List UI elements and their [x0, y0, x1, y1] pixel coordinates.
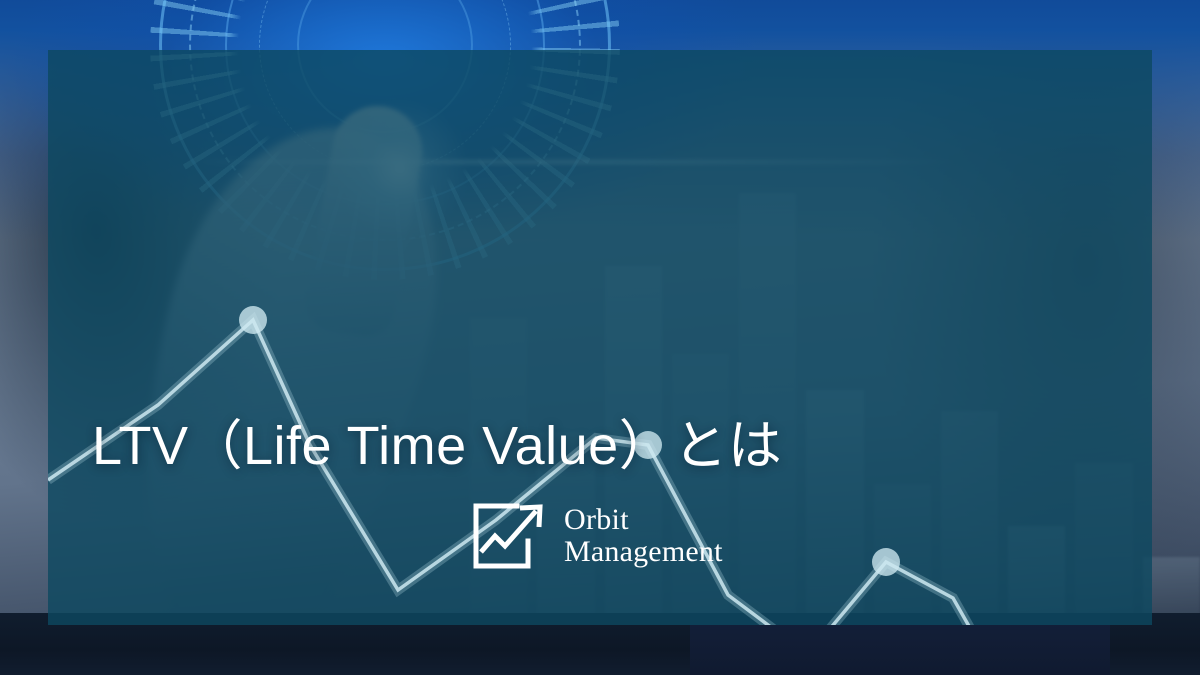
brand-name-bottom: Management [564, 536, 723, 568]
hero-banner: LTV（Life Time Value）とは 何か？ 向上させる方法 Orbit… [0, 0, 1200, 675]
brand-wordmark: Orbit Management [564, 504, 723, 568]
page-title: LTV（Life Time Value）とは 何か？ 向上させる方法 [92, 176, 1052, 675]
brand-name-top: Orbit [564, 504, 723, 536]
page-title-line-1: LTV（Life Time Value）とは [92, 392, 1052, 500]
orbit-growth-chart-icon [470, 500, 548, 572]
brand-logo: Orbit Management [470, 500, 723, 572]
